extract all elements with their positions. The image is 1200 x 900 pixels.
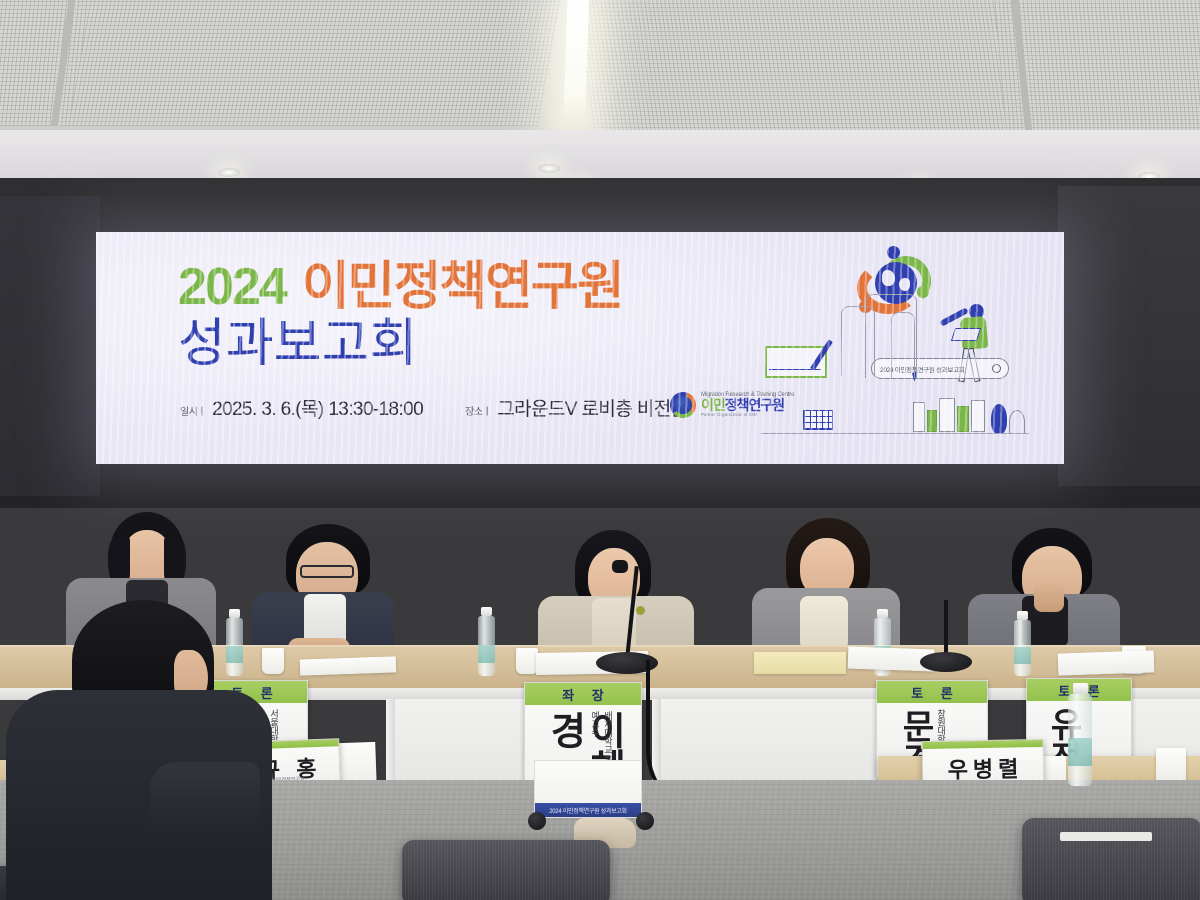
glasses-icon [300, 565, 354, 578]
place-label: 장소ㅣ [465, 403, 491, 418]
logo-tagline: Partner Organization of IOM [701, 413, 794, 418]
microphone-stand [944, 600, 948, 658]
logo-korean-name: 이민정책연구원 [701, 398, 794, 413]
placard-role: 토 론 [877, 681, 987, 703]
water-bottle [478, 616, 495, 676]
placard-role: 좌 장 [525, 683, 641, 705]
wall-panel-left [0, 196, 100, 496]
document [300, 656, 396, 675]
slide-meta: 일시ㅣ 2025. 3. 6.(목) 13:30-18:00 장소ㅣ 그라운드V… [180, 394, 687, 421]
chair-foreground-right [1022, 818, 1200, 900]
date-value: 2025. 3. 6.(목) 13:30-18:00 [212, 394, 423, 421]
search-icon [992, 364, 1001, 373]
inner-top [800, 596, 848, 650]
place-value: 그라운드V 로비층 비전룸 [497, 394, 687, 421]
illustration-ground-line [761, 433, 1029, 434]
illustration-solar-grid [803, 410, 833, 430]
logo-korean-prefix: 이민 [701, 397, 725, 413]
bottle-cap [1017, 611, 1028, 620]
bottle-label [226, 646, 243, 663]
date-label: 일시ㅣ [180, 403, 206, 418]
slide-illustration: 2024 이민정책연구원 성과보고회 [795, 246, 1030, 446]
globe-dot-green [917, 286, 929, 298]
paper-cup [262, 648, 284, 674]
table-caster [636, 812, 654, 830]
skirt-banner-text: 2024 이민정책연구원 성과보고회 [535, 803, 641, 817]
slide-title-org: 이민정책연구원 [302, 258, 623, 316]
table-skirt-banner: 2024 이민정책연구원 성과보고회 [534, 760, 642, 818]
bottle-label [1068, 738, 1092, 766]
microphone-base [920, 652, 972, 672]
globe-person-head [887, 246, 900, 259]
bottle-label [1014, 647, 1031, 664]
wall-panel-right [1058, 186, 1200, 486]
downlight-icon [218, 168, 240, 177]
slide-title: 2024이민정책연구원 성과보고회 [178, 262, 623, 370]
bottle-label [478, 645, 495, 663]
document-open [1058, 650, 1155, 675]
hand-on-chin [1034, 582, 1064, 612]
water-bottle [226, 618, 243, 676]
microphone-head [612, 560, 628, 573]
globe-icon [670, 392, 696, 418]
logo-korean-suffix: 정책연구원 [725, 397, 784, 413]
illustration-building [939, 398, 955, 432]
bottle-cap [1073, 683, 1088, 694]
table-caster [528, 812, 546, 830]
slide-title-year: 2024 [178, 258, 286, 316]
brooch-icon [636, 606, 645, 615]
ceiling-panel [68, 0, 561, 126]
ceiling-panel [575, 0, 1054, 132]
illustration-building [913, 402, 925, 432]
illustration-person-with-laptop [943, 304, 1005, 396]
illustration-building [957, 406, 969, 432]
illustration-tree [1009, 410, 1025, 434]
illustration-tree [991, 404, 1007, 434]
paper-cup [1156, 748, 1186, 784]
envelope [754, 652, 846, 674]
projection-screen: 2024이민정책연구원 성과보고회 일시ㅣ 2025. 3. 6.(목) 13:… [96, 232, 1064, 464]
organization-logo: Migration Research & Training Centre 이민정… [670, 392, 794, 418]
chair-label [1060, 832, 1152, 841]
paper-cup [516, 648, 538, 674]
illustration-building [971, 400, 985, 432]
conference-room-photo: 2024이민정책연구원 성과보고회 일시ㅣ 2025. 3. 6.(목) 13:… [0, 0, 1200, 900]
shoulder-arm [150, 762, 260, 828]
logo-text: Migration Research & Training Centre 이민정… [701, 392, 794, 418]
bottle-cap [229, 609, 240, 618]
bottle-cap [481, 607, 492, 616]
bottle-cap [877, 609, 888, 618]
chair-foreground-left [402, 840, 610, 900]
downlight-icon [538, 164, 560, 173]
laptop-icon [951, 328, 981, 341]
slide-title-sub: 성과보고회 [178, 319, 623, 370]
illustration-pipe [891, 312, 915, 378]
water-bottle [1014, 620, 1031, 676]
ceiling-light-strip [563, 0, 590, 136]
placard-strip [923, 740, 1043, 749]
water-bottle [1068, 694, 1092, 786]
illustration-building [927, 410, 937, 432]
